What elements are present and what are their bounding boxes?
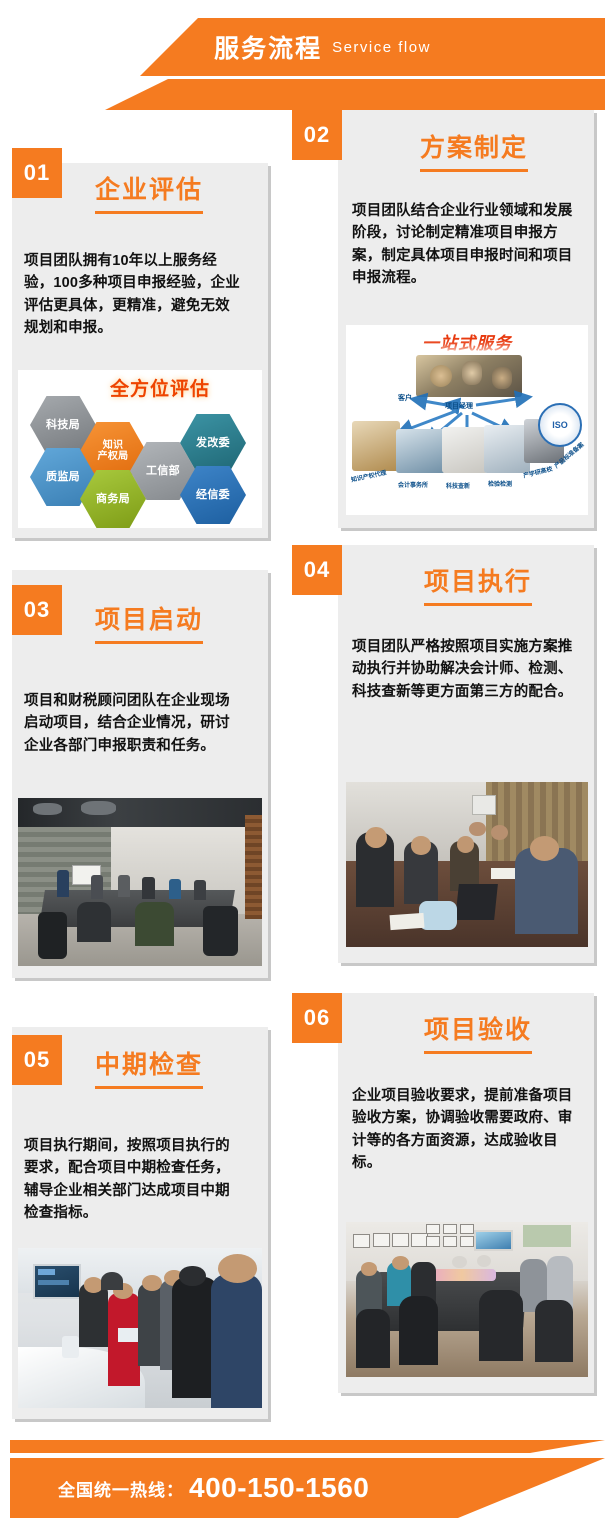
step-number-badge-03: 03: [12, 585, 62, 635]
onestop-photo-search: [442, 427, 488, 473]
step-title-wrap-05: 中期检查: [95, 1045, 203, 1089]
photo-person-head: [392, 1256, 409, 1270]
onestop-photo-accounting: [396, 429, 446, 473]
step-number-badge-05: 05: [12, 1035, 62, 1085]
photo-bag: [419, 901, 458, 931]
header-banner-secondary: [0, 79, 605, 110]
photo-paper: [389, 913, 424, 930]
step-title-wrap-04: 项目执行: [424, 562, 532, 606]
photo-person: [142, 877, 154, 899]
step-number-badge-06: 06: [292, 993, 342, 1043]
onestop-caption-accounting: 会计事务所: [398, 480, 428, 489]
photo-person: [169, 879, 181, 899]
photo-person: [118, 875, 130, 897]
photo-chair: [38, 912, 67, 959]
onestop-caption-search: 科技查新: [446, 481, 470, 490]
step-title-01: 企业评估: [95, 170, 203, 214]
photo-conference-room-a: [18, 798, 262, 966]
photo-certificate-frame: [392, 1233, 409, 1247]
page-subtitle: Service flow: [332, 39, 431, 56]
step-number-badge-04: 04: [292, 545, 342, 595]
step-media-04: [346, 782, 588, 947]
photo-person-head: [411, 836, 430, 854]
step-media-06: [346, 1222, 588, 1377]
photo-chair: [356, 1309, 390, 1368]
onestop-label-customer: 客户: [398, 393, 412, 403]
photo-person-back: [77, 902, 111, 942]
step-title-wrap-03: 项目启动: [95, 600, 203, 644]
photo-person-head: [365, 827, 387, 848]
photo-certificate-frame: [460, 1224, 475, 1235]
photo-brochure: [118, 1328, 140, 1342]
onestop-badge-iso: ISO: [538, 403, 582, 447]
photo-wood-column: [245, 815, 262, 919]
photo-chair: [535, 1300, 574, 1362]
step-title-02: 方案制定: [420, 128, 528, 172]
photo-certificate-frame: [426, 1224, 441, 1235]
photo-green-board: [523, 1225, 571, 1247]
photo-working-meeting: [346, 782, 588, 947]
photo-person-head: [477, 1255, 492, 1267]
page-header: 服务流程 Service flow: [0, 0, 605, 110]
step-body-01: 项目团队拥有10年以上服务经验，100多种项目申报经验，企业评估更具体，更精准，…: [24, 250, 242, 340]
step-title-wrap-02: 方案制定: [420, 128, 528, 172]
photo-projection-screen: [474, 1230, 513, 1252]
step-media-03: [18, 798, 262, 966]
photo-person: [91, 875, 103, 899]
photo-person: [57, 870, 69, 897]
step-media-05: [18, 1248, 262, 1408]
photo-screen-content: [38, 1280, 70, 1285]
page-footer: 全国统一热线： 400-150-1560: [0, 1432, 605, 1538]
step-body-05: 项目执行期间，按照项目执行的要求，配合项目中期检查任务，辅导企业相关部门达成项目…: [24, 1135, 244, 1225]
photo-counter-device: [62, 1336, 79, 1358]
step-media-02: 一站式服务 客户 项目经理: [346, 325, 588, 515]
photo-person-green-coat: [135, 902, 174, 946]
onestop-caption-testing: 检验检测: [488, 479, 512, 488]
photo-flowers: [428, 1269, 496, 1281]
photo-certificate-frame: [373, 1233, 390, 1247]
photo-site-inspection: [18, 1248, 262, 1408]
step-number-badge-02: 02: [292, 110, 342, 160]
step-number-badge-01: 01: [12, 148, 62, 198]
photo-certificate-frame: [443, 1236, 458, 1247]
photo-laptop: [455, 884, 498, 920]
step-title-03: 项目启动: [95, 600, 203, 644]
photo-person-head: [530, 836, 559, 861]
photo-certificate-frame: [426, 1236, 441, 1247]
photo-chair: [479, 1290, 523, 1361]
page-title: 服务流程: [214, 29, 322, 65]
photo-ac-unit: [472, 795, 496, 815]
onestop-label-pm: 项目经理: [445, 401, 473, 411]
step-body-03: 项目和财税顾问团队在企业现场启动项目，结合企业情况，研讨企业各部门申报职责和任务…: [24, 690, 244, 757]
photo-person: [194, 880, 206, 900]
footer-hotline-label: 全国统一热线：: [58, 1476, 184, 1501]
photo-ceiling-panel: [33, 803, 62, 815]
footer-hotline-number: 400-150-1560: [189, 1472, 369, 1504]
step-title-04: 项目执行: [424, 562, 532, 606]
step-body-04: 项目团队严格按照项目实施方案推动执行并协助解决会计师、检测、科技查新等更方面第三…: [352, 636, 574, 703]
footer-hotline[interactable]: 全国统一热线： 400-150-1560: [58, 1458, 369, 1518]
photo-ceiling-panel-2: [81, 801, 115, 814]
photo-certificate-frame: [353, 1234, 370, 1248]
photo-person: [101, 1272, 123, 1290]
photo-person-head: [491, 825, 508, 840]
photo-certificate-frame: [460, 1236, 475, 1247]
step-title-wrap-06: 项目验收: [424, 1010, 532, 1054]
step-body-02: 项目团队结合企业行业领域和发展阶段，讨论制定精准项目申报方案，制定具体项目申报时…: [352, 200, 574, 290]
footer-stripe-thin: [10, 1440, 605, 1453]
step-title-wrap-01: 企业评估: [95, 170, 203, 214]
onestop-diagram: 一站式服务 客户 项目经理: [346, 325, 588, 515]
onestop-photo-ip: [352, 421, 400, 471]
header-title-group: 服务流程 Service flow: [0, 18, 605, 76]
photo-certificate-frame: [443, 1224, 458, 1235]
hexagon-diagram: 全方位评估 科技局 知识产权局 发改委 质监局 工信部 商务局 经信委: [18, 370, 262, 528]
photo-person-head: [179, 1266, 206, 1287]
step-title-06: 项目验收: [424, 1010, 532, 1054]
step-media-01: 全方位评估 科技局 知识产权局 发改委 质监局 工信部 商务局 经信委: [18, 370, 262, 528]
hexagon-diagram-title: 全方位评估: [110, 374, 210, 401]
photo-person-blue-jacket: [211, 1274, 262, 1408]
photo-acceptance-meeting: [346, 1222, 588, 1377]
photo-chair: [399, 1296, 438, 1364]
photo-paper: [491, 868, 515, 880]
step-body-06: 企业项目验收要求，提前准备项目验收方案，协调验收需要政府、审计等的各方面资源，达…: [352, 1085, 574, 1175]
photo-screen-content: [38, 1269, 55, 1275]
step-title-05: 中期检查: [95, 1045, 203, 1089]
photo-chair: [203, 906, 237, 956]
photo-person-blue-shirt: [515, 848, 578, 934]
